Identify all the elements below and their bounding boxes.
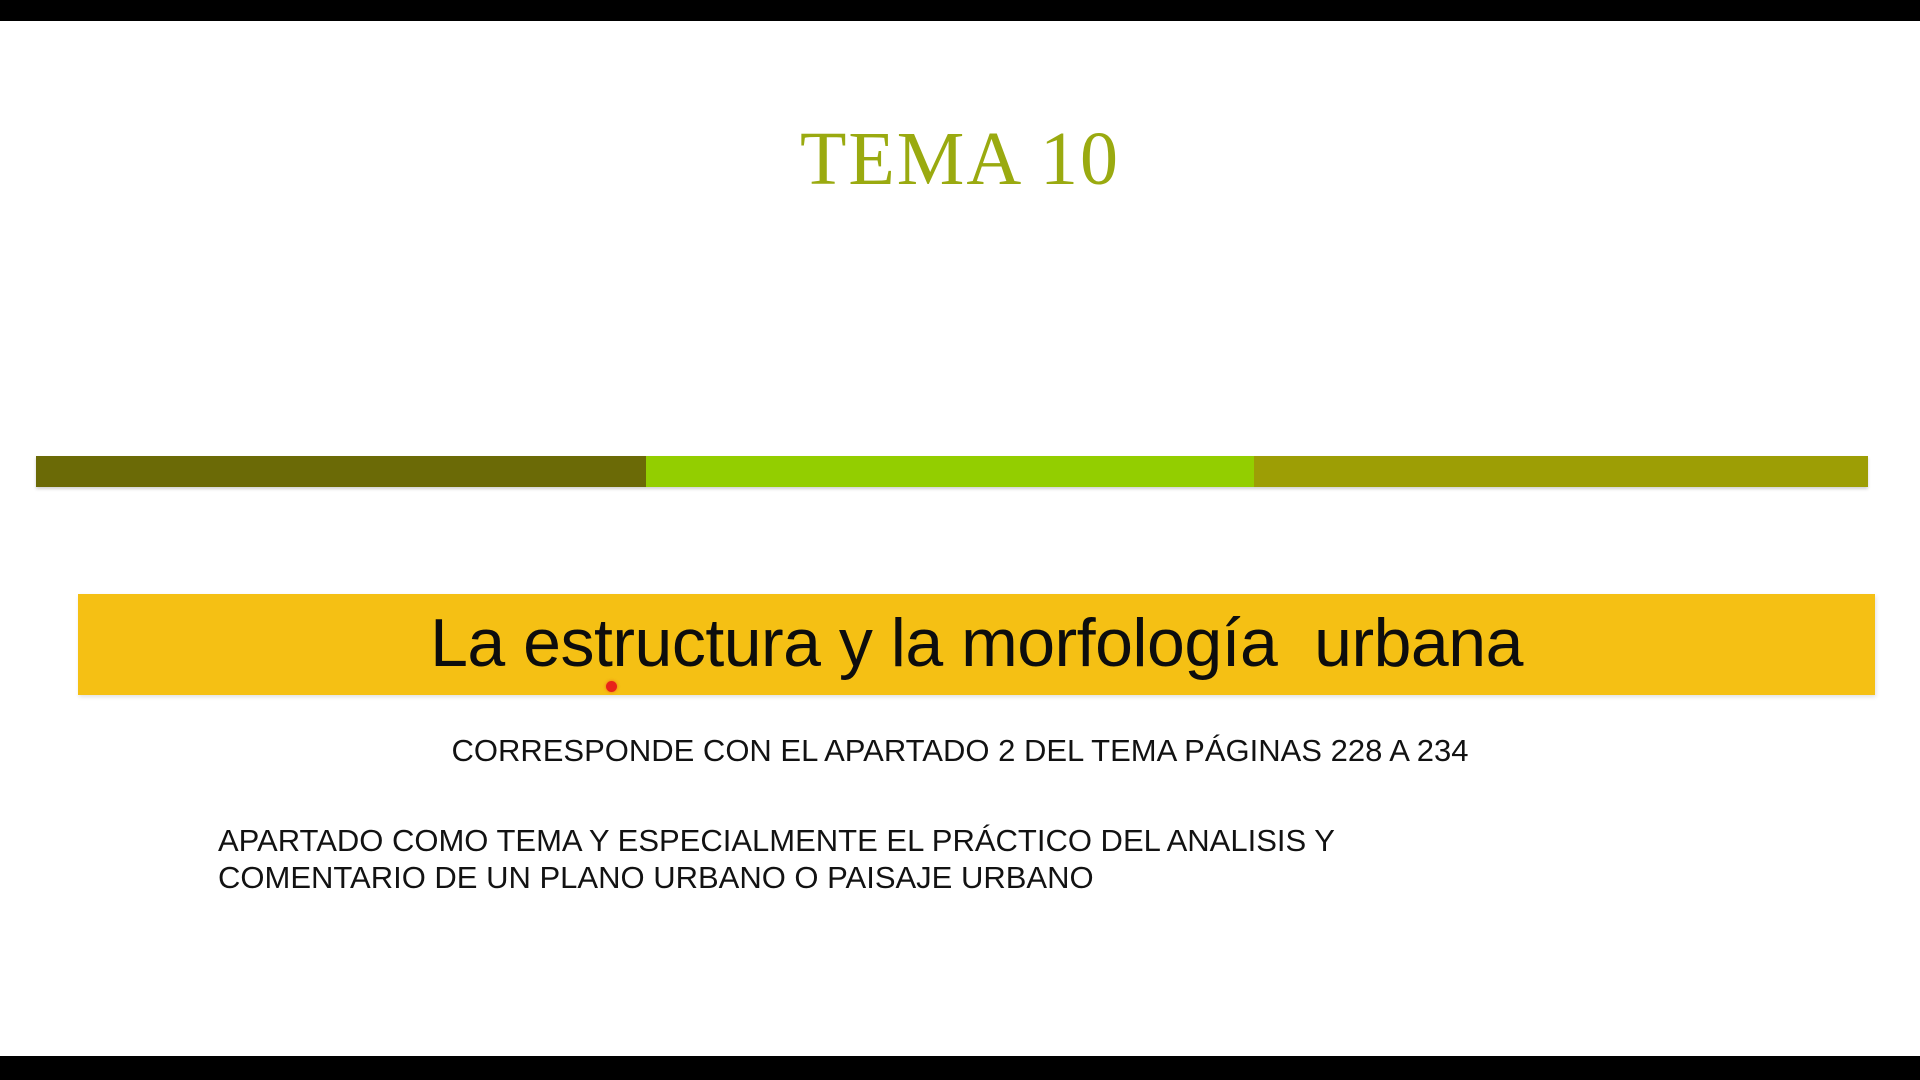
tricolor-divider-bar [36, 456, 1868, 487]
description-paragraph: APARTADO COMO TEMA Y ESPECIALMENTE EL PR… [218, 823, 1618, 896]
reference-subline: CORRESPONDE CON EL APARTADO 2 DEL TEMA P… [0, 733, 1920, 769]
letterbox-bar-top [0, 0, 1920, 21]
slide-heading: TEMA 10 [0, 121, 1920, 197]
paragraph-line-1: APARTADO COMO TEMA Y ESPECIALMENTE EL PR… [218, 823, 1618, 860]
divider-segment-bright-green [646, 456, 1254, 487]
presentation-slide: TEMA 10 La estructura y la morfología ur… [0, 0, 1920, 1080]
red-dot-marker-icon [606, 681, 617, 692]
divider-segment-dark-olive [36, 456, 646, 487]
slide-title: La estructura y la morfología urbana [430, 609, 1523, 681]
divider-segment-olive-gold [1254, 456, 1868, 487]
letterbox-bar-bottom [0, 1056, 1920, 1080]
slide-canvas: TEMA 10 La estructura y la morfología ur… [0, 21, 1920, 1056]
title-banner: La estructura y la morfología urbana [78, 594, 1875, 695]
paragraph-line-2: COMENTARIO DE UN PLANO URBANO O PAISAJE … [218, 860, 1618, 897]
